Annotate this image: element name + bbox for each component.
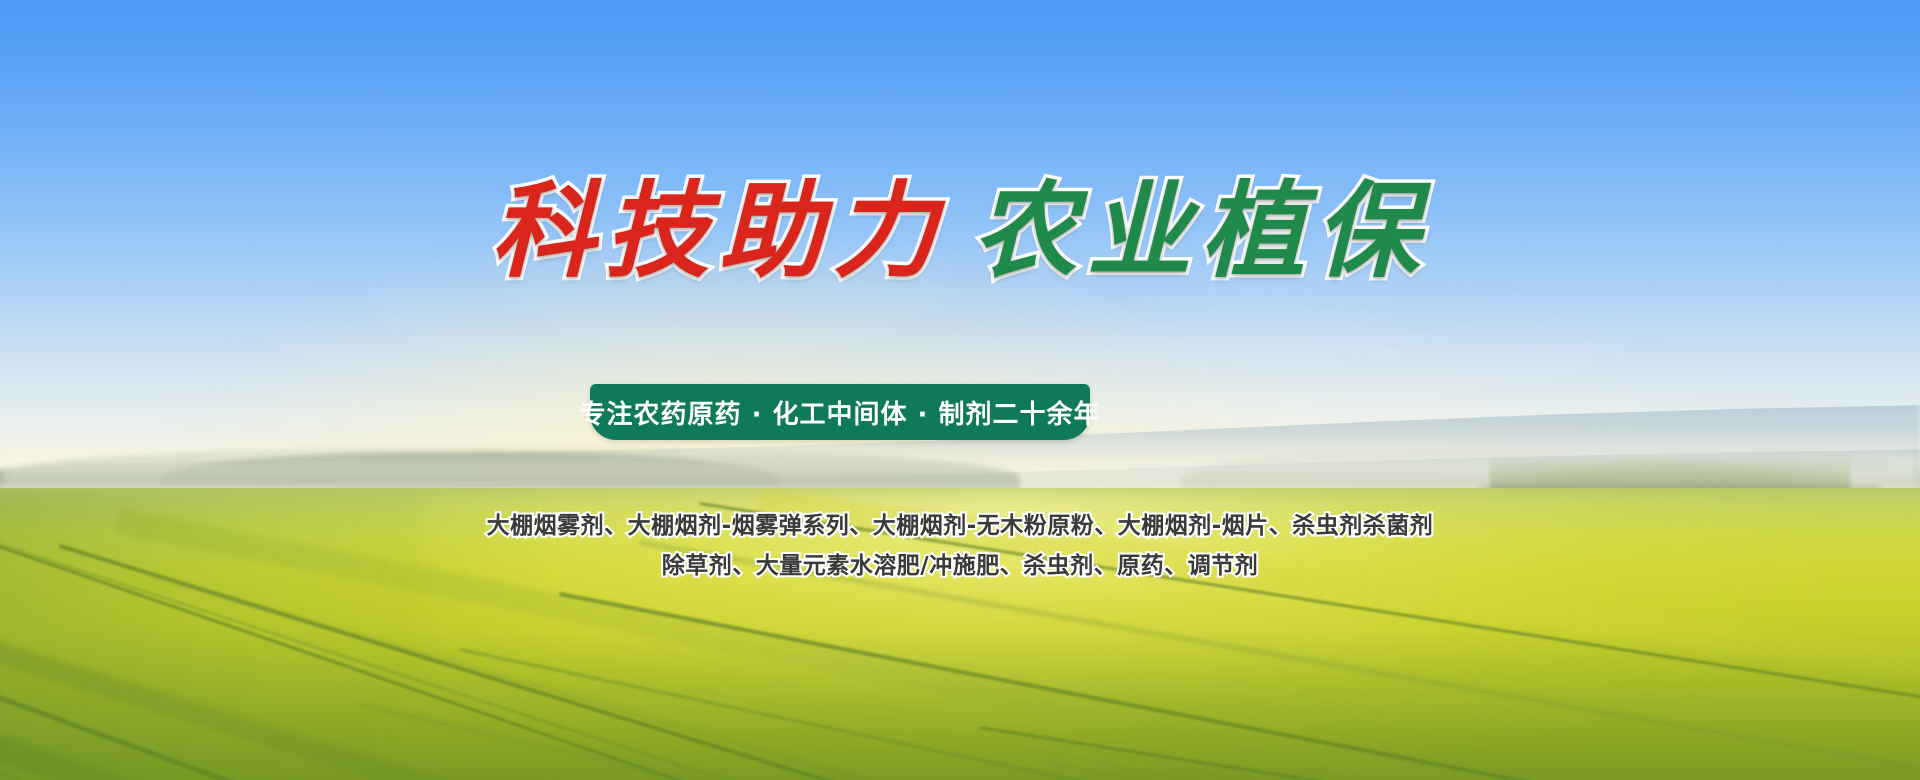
field-shadow-bottom [0, 630, 1920, 780]
tagline-pill: 专注农药原药 · 化工中间体 · 制剂二十余年 [590, 384, 1090, 440]
farm-field [0, 488, 1920, 780]
hero-banner: 科技助力农业植保 专注农药原药 · 化工中间体 · 制剂二十余年 大棚烟雾剂、大… [0, 0, 1920, 780]
tagline-text: 专注农药原药 · 化工中间体 · 制剂二十余年 [580, 394, 1101, 431]
